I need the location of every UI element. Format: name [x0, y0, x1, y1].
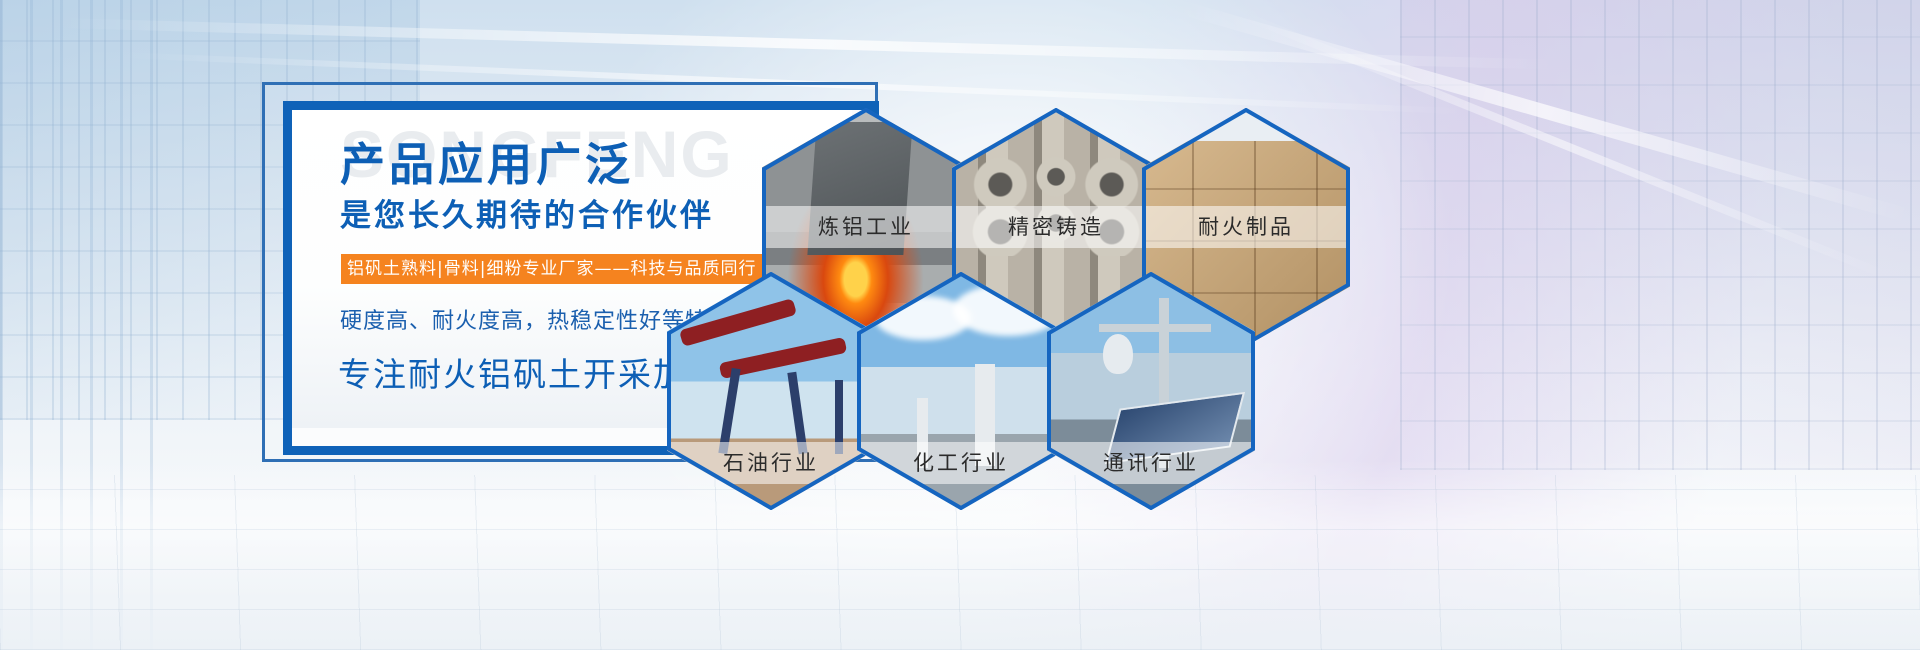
mast-crossarm	[1099, 324, 1211, 332]
camera-dome-icon	[1103, 334, 1133, 374]
pumpjack-arm-1	[679, 298, 797, 347]
hexagon-label: 耐火制品	[1142, 206, 1350, 248]
hexagon-label: 化工行业	[857, 442, 1065, 484]
hexagon-label: 精密铸造	[952, 206, 1160, 248]
hexagon-photo-clip: 通讯行业	[1047, 272, 1255, 510]
background-glass-right	[1400, 0, 1920, 470]
hexagon-tile-oil-industry[interactable]: 石油行业	[667, 272, 875, 510]
headline: 产品应用广泛	[340, 128, 634, 193]
subheadline: 是您长久期待的合作伙伴	[340, 190, 714, 235]
hexagon-label: 石油行业	[667, 442, 875, 484]
hexagon-photo-clip: 石油行业	[667, 272, 875, 510]
promo-banner: SONGFENG 产品应用广泛 是您长久期待的合作伙伴 铝矾土熟料|骨料|细粉专…	[0, 0, 1920, 650]
hexagon-photo-clip: 化工行业	[857, 272, 1065, 510]
hexagon-tile-chemical-industry[interactable]: 化工行业	[857, 272, 1065, 510]
hexagon-label: 通讯行业	[1047, 442, 1255, 484]
slogan: 专注耐火铝矾土开采加工	[338, 348, 723, 396]
hexagon-tile-telecom-industry[interactable]: 通讯行业	[1047, 272, 1255, 510]
hexagon-label: 炼铝工业	[762, 206, 970, 248]
